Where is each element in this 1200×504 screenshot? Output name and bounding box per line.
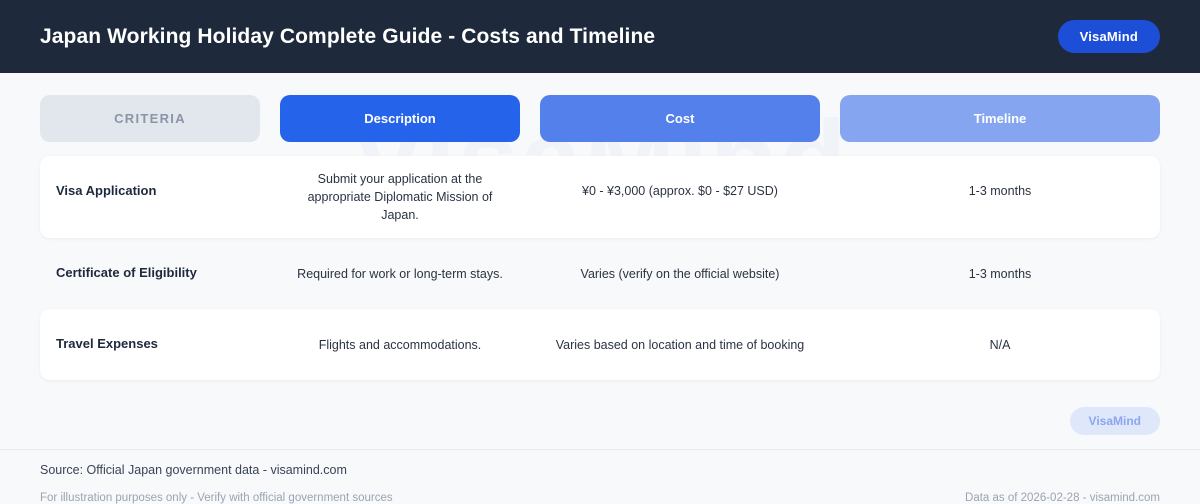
page-title: Japan Working Holiday Complete Guide - C… <box>40 25 655 49</box>
column-header-description[interactable]: Description <box>280 95 520 142</box>
table-header-row: CRITERIA Description Cost Timeline <box>40 95 1160 142</box>
footer-brand-row: VisaMind <box>0 407 1200 449</box>
table-row[interactable]: Certificate of Eligibility Required for … <box>40 238 1160 309</box>
cell-cost: Varies (verify on the official website) <box>550 265 810 283</box>
table-row[interactable]: Travel Expenses Flights and accommodatio… <box>40 309 1160 380</box>
page-header: Japan Working Holiday Complete Guide - C… <box>0 0 1200 73</box>
comparison-table: CRITERIA Description Cost Timeline Visa … <box>0 73 1200 380</box>
page-footer: VisaMind Source: Official Japan governme… <box>0 407 1200 504</box>
cell-description: Flights and accommodations. <box>290 336 510 354</box>
source-line: Source: Official Japan government data -… <box>40 463 1160 477</box>
column-header-timeline[interactable]: Timeline <box>840 95 1160 142</box>
cell-cost: Varies based on location and time of boo… <box>550 336 810 354</box>
infographic-page: VisaMind Japan Working Holiday Complete … <box>0 0 1200 504</box>
cell-description: Required for work or long-term stays. <box>290 265 510 283</box>
cell-criteria: Visa Application <box>56 182 250 201</box>
cell-timeline: 1-3 months <box>850 265 1150 283</box>
cell-criteria: Travel Expenses <box>56 335 250 354</box>
column-header-criteria[interactable]: CRITERIA <box>40 95 260 142</box>
brand-badge[interactable]: VisaMind <box>1058 20 1160 53</box>
footer-text-block: Source: Official Japan government data -… <box>0 450 1200 504</box>
disclaimer-text: For illustration purposes only - Verify … <box>40 492 393 504</box>
data-as-of-text: Data as of 2026-02-28 - visamind.com <box>965 492 1160 504</box>
column-header-cost[interactable]: Cost <box>540 95 820 142</box>
cell-timeline: N/A <box>850 336 1150 354</box>
table-row[interactable]: Visa Application Submit your application… <box>40 156 1160 238</box>
cell-description: Submit your application at the appropria… <box>290 170 510 224</box>
cell-cost: ¥0 - ¥3,000 (approx. $0 - $27 USD) <box>550 182 810 200</box>
cell-timeline: 1-3 months <box>850 182 1150 200</box>
footer-brand-badge[interactable]: VisaMind <box>1070 407 1160 435</box>
cell-criteria: Certificate of Eligibility <box>56 264 250 283</box>
